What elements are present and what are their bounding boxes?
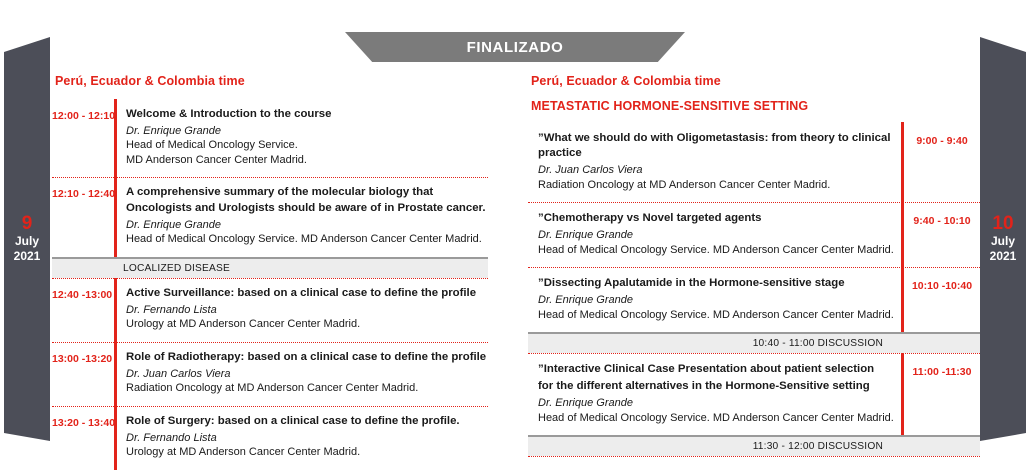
- day-month-left: July: [15, 234, 39, 249]
- session-time: 13:00 -13:20: [52, 342, 114, 406]
- session-time: 12:00 - 12:10: [52, 99, 114, 177]
- session-speaker: Dr. Enrique Grande: [538, 293, 894, 307]
- session-body: Active Surveillance: based on a clinical…: [117, 278, 488, 342]
- session-affiliation: Radiation Oncology at MD Anderson Cancer…: [126, 381, 488, 396]
- session-body: ”Interactive Clinical Case Presentation …: [528, 353, 904, 435]
- session-affiliation: Head of Medical Oncology Service. MD And…: [538, 308, 894, 323]
- agenda-row: 12:00 - 12:10 Welcome & Introduction to …: [52, 99, 488, 177]
- session-title: ”What we should do with Oligometastasis:…: [538, 131, 894, 161]
- session-speaker: Dr. Fernando Lista: [126, 303, 488, 317]
- session-title: A comprehensive summary of the molecular…: [126, 185, 488, 215]
- session-title: Welcome & Introduction to the course: [126, 107, 488, 122]
- day-panel-right: 10 July 2021: [980, 37, 1026, 441]
- session-body: ”Chemotherapy vs Novel targeted agents D…: [528, 202, 904, 267]
- session-title: Role of Surgery: based on a clinical cas…: [126, 414, 488, 429]
- session-body: ”Dissecting Apalutamide in the Hormone-s…: [528, 267, 904, 332]
- session-time: 10:10 -10:40: [904, 267, 980, 332]
- discussion-band-2: 11:30 - 12:00 DISCUSSION: [528, 435, 980, 456]
- day-month-right: July: [991, 234, 1015, 249]
- agenda-column-day-9: Perú, Ecuador & Colombia time 12:00 - 12…: [52, 74, 488, 470]
- session-body: Welcome & Introduction to the course Dr.…: [117, 99, 488, 177]
- day-year-left: 2021: [14, 249, 41, 264]
- status-banner: FINALIZADO: [345, 32, 685, 62]
- day-year-right: 2021: [990, 249, 1017, 264]
- discussion-band-label: 10:40 - 11:00 DISCUSSION: [753, 338, 883, 349]
- day-panel-left: 9 July 2021: [4, 37, 50, 441]
- session-speaker: Dr. Juan Carlos Viera: [538, 163, 894, 177]
- session-body: Role of Surgery: based on a clinical cas…: [117, 406, 488, 470]
- session-affiliation: Head of Medical Oncology Service.: [126, 138, 488, 153]
- session-title: for the different alternatives in the Ho…: [538, 379, 894, 394]
- session-speaker: Dr. Enrique Grande: [538, 228, 894, 242]
- session-time: 12:10 - 12:40: [52, 177, 114, 256]
- agenda-row: ”Dissecting Apalutamide in the Hormone-s…: [528, 267, 980, 332]
- session-speaker: Dr. Enrique Grande: [538, 396, 894, 410]
- section-band-localized-disease: LOCALIZED DISEASE: [52, 257, 488, 278]
- day-number-right: 10: [992, 214, 1013, 234]
- agenda-row: ”What we should do with Oligometastasis:…: [528, 122, 980, 202]
- session-title: Role of Radiotherapy: based on a clinica…: [126, 350, 488, 365]
- session-speaker: Dr. Enrique Grande: [126, 124, 488, 138]
- session-title: ”Chemotherapy vs Novel targeted agents: [538, 211, 894, 226]
- agenda-row: ”Chemotherapy vs Novel targeted agents D…: [528, 202, 980, 267]
- session-time: 12:40 -13:00: [52, 278, 114, 342]
- session-title: Active Surveillance: based on a clinical…: [126, 286, 488, 301]
- session-speaker: Dr. Enrique Grande: [126, 218, 488, 232]
- session-body: A comprehensive summary of the molecular…: [117, 177, 488, 256]
- session-affiliation: Radiation Oncology at MD Anderson Cancer…: [538, 178, 894, 193]
- session-affiliation: Urology at MD Anderson Cancer Center Mad…: [126, 317, 488, 332]
- session-affiliation: Head of Medical Oncology Service. MD And…: [538, 243, 894, 258]
- session-affiliation: Urology at MD Anderson Cancer Center Mad…: [126, 445, 488, 460]
- session-body: Role of Radiotherapy: based on a clinica…: [117, 342, 488, 406]
- session-title: ”Interactive Clinical Case Presentation …: [538, 362, 894, 377]
- discussion-band-1: 10:40 - 11:00 DISCUSSION: [528, 332, 980, 353]
- timezone-header-right: Perú, Ecuador & Colombia time: [531, 74, 980, 88]
- section-header-metastatic: METASTATIC HORMONE-SENSITIVE SETTING: [531, 99, 980, 113]
- agenda-row: 12:40 -13:00 Active Surveillance: based …: [52, 278, 488, 342]
- session-title: ”Dissecting Apalutamide in the Hormone-s…: [538, 276, 894, 291]
- session-time: 11:00 -11:30: [904, 353, 980, 435]
- agenda-rail-wrapper: ”What we should do with Oligometastasis:…: [528, 122, 980, 332]
- agenda-row: 13:20 - 13:40 Role of Surgery: based on …: [52, 406, 488, 470]
- session-time: 9:40 - 10:10: [904, 202, 980, 267]
- session-speaker: Dr. Juan Carlos Viera: [126, 367, 488, 381]
- day-number-left: 9: [22, 214, 33, 234]
- timezone-header-left: Perú, Ecuador & Colombia time: [55, 74, 488, 88]
- discussion-band-label: 11:30 - 12:00 DISCUSSION: [753, 441, 883, 452]
- agenda-row: 12:10 - 12:40 A comprehensive summary of…: [52, 177, 488, 256]
- agenda-row: ”Interactive Clinical Case Presentation …: [528, 353, 980, 435]
- session-speaker: Dr. Fernando Lista: [126, 431, 488, 445]
- session-affiliation: Head of Medical Oncology Service. MD And…: [126, 232, 488, 247]
- agenda-row: 13:00 -13:20 Role of Radiotherapy: based…: [52, 342, 488, 406]
- session-body: ”What we should do with Oligometastasis:…: [528, 122, 904, 202]
- status-banner-label: FINALIZADO: [467, 39, 564, 56]
- session-affiliation: MD Anderson Cancer Center Madrid.: [126, 153, 488, 168]
- section-band-label: LOCALIZED DISEASE: [123, 263, 230, 274]
- agenda-column-day-10: Perú, Ecuador & Colombia time METASTATIC…: [528, 74, 980, 456]
- agenda-rail-wrapper: ”Interactive Clinical Case Presentation …: [528, 353, 980, 435]
- session-affiliation: Head of Medical Oncology Service. MD And…: [538, 411, 894, 426]
- session-time: 13:20 - 13:40: [52, 406, 114, 470]
- session-time: 9:00 - 9:40: [904, 122, 980, 202]
